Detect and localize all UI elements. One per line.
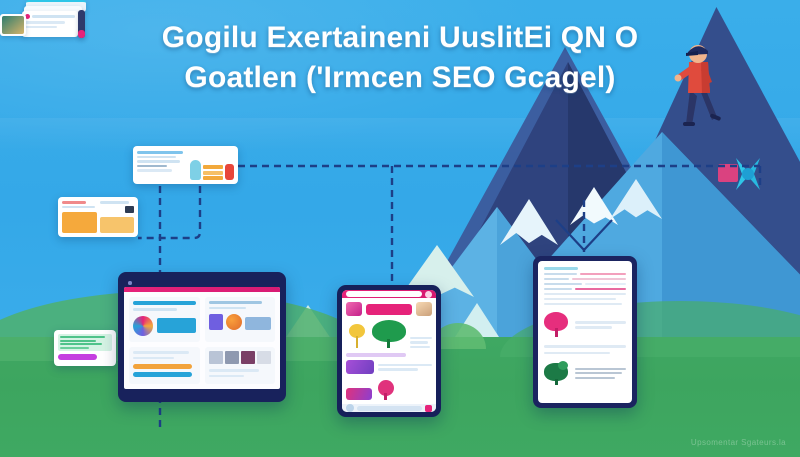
panel-analytics[interactable] [129, 297, 200, 342]
serp-card-thumbs [190, 150, 234, 180]
serp-line-1 [137, 151, 183, 154]
panel-report-swatch-1 [209, 351, 223, 364]
snippet-green-box [58, 334, 112, 351]
tablet-line-1a [544, 273, 577, 276]
balloon-stem [356, 336, 358, 348]
phone-foot-field[interactable] [357, 406, 422, 411]
panel-report-swatch-3 [241, 351, 255, 364]
tablet-line-4a [544, 288, 572, 291]
phone-illustration-pin [377, 380, 395, 400]
laptop-panel-grid [124, 292, 280, 389]
serp-thumb-orange-2 [203, 171, 223, 175]
phone-foot-icon[interactable] [346, 404, 354, 412]
snippet-cta-bar[interactable] [58, 354, 97, 360]
illustration-pink-tree [544, 312, 570, 338]
serp-thumb-orange-1 [203, 165, 223, 169]
panel-traffic-circle [226, 314, 242, 330]
summit-flag-marker [716, 152, 764, 196]
serp-line-2 [137, 156, 176, 159]
serp-thumb-teal [190, 160, 201, 180]
panel-rankings-line-2 [133, 357, 174, 360]
panel-traffic-line-2 [209, 307, 247, 310]
panel-analytics-row [133, 316, 196, 336]
pink-tree-trunk [555, 328, 558, 337]
serp-result-card[interactable] [133, 146, 238, 184]
phone-thumb-tan [416, 302, 432, 316]
phone-row-1 [346, 302, 432, 316]
serp-line-3 [137, 160, 180, 163]
page-title: Gogilu Exertaineni UuslitEi QN O Goatlen… [0, 18, 800, 98]
pin-stem [384, 393, 387, 400]
watermark-text: Upsomentar Sgateurs.la [691, 438, 786, 447]
ad-card-col-right [100, 201, 135, 233]
flag-marker-center [742, 168, 754, 180]
panel-traffic-line-1 [209, 301, 262, 304]
serp-card-lines [137, 150, 187, 180]
flag-marker-svg [716, 152, 764, 196]
laptop-titlebar [124, 279, 280, 287]
phone-screen [342, 290, 436, 412]
tablet-line-5 [544, 293, 626, 296]
ad-block-orange-left [62, 212, 97, 233]
mobile-serp-phone[interactable] [337, 285, 441, 417]
ad-line-2 [62, 206, 95, 209]
panel-report-swatch-4 [257, 351, 271, 364]
tablet-pink-line-2 [575, 326, 612, 329]
tablet-line-row-2 [544, 278, 626, 281]
panel-analytics-line [133, 308, 177, 311]
phone-divider-bar [346, 353, 406, 357]
tablet-line-row-3 [544, 283, 626, 286]
tablet-line-7 [544, 303, 622, 306]
tablet-pink-line-1 [575, 321, 626, 324]
panel-traffic-bar-purple [209, 314, 223, 330]
tablet-row-green [544, 361, 626, 385]
banner-canvas: Gogilu Exertaineni UuslitEi QN O Goatlen… [0, 0, 800, 457]
snippet-green-line-3 [60, 343, 102, 345]
phone-illustration-balloon [346, 324, 368, 348]
tablet-line-2b [572, 278, 626, 281]
tablet-line-3b [585, 283, 626, 286]
ad-card-columns [62, 201, 134, 233]
tablet-green-line-3 [575, 377, 615, 379]
phone-thumb-pink [346, 302, 362, 316]
snippet-green-line-1 [60, 336, 105, 338]
panel-report-swatches [209, 351, 272, 364]
illustration-green-bush [544, 361, 570, 385]
panel-rankings-bar-orange [133, 364, 192, 369]
tablet-line-3a [544, 283, 582, 286]
tablet-line-8 [544, 345, 626, 348]
serp-line-4 [137, 165, 167, 168]
tablet-green-line-2 [575, 372, 622, 374]
panel-rankings-bar-blue [133, 372, 192, 377]
laptop-screen [124, 287, 280, 389]
content-tablet[interactable] [533, 256, 637, 408]
ad-card-col-left [62, 201, 97, 233]
panel-report-line-2 [209, 375, 244, 378]
phone-bar-pink [366, 304, 412, 315]
panel-report[interactable] [205, 347, 276, 384]
snippet-green-line-2 [60, 340, 96, 342]
snippet-green-line-4 [60, 347, 89, 349]
phone-block-gradient [346, 388, 372, 400]
tablet-line-4b [575, 288, 626, 291]
phone-lines-group-1 [410, 337, 432, 349]
panel-report-line-1 [209, 369, 259, 372]
panel-analytics-chart [133, 316, 153, 336]
tablet-line-title [544, 267, 578, 270]
panel-traffic-row [209, 314, 272, 330]
tablet-line-9 [544, 352, 610, 355]
tablet-line-2a [544, 278, 569, 281]
serp-thumb-orange-3 [203, 176, 223, 180]
title-line-2: Goatlen ('Irmcen SEO Gcagel) [70, 58, 730, 98]
phone-foot-action[interactable] [425, 405, 432, 412]
phone-line-2 [410, 341, 428, 344]
ad-listing-card[interactable] [58, 197, 138, 237]
panel-rankings-line-1 [133, 351, 189, 354]
green-bush-top [558, 361, 568, 370]
tree-trunk [387, 339, 390, 348]
phone-line-4 [378, 364, 432, 367]
phone-avatar[interactable] [425, 291, 432, 298]
tablet-pink-lines [575, 321, 626, 329]
tablet-line-row-4 [544, 288, 626, 291]
phone-content [342, 298, 436, 404]
phone-line-5 [378, 368, 418, 371]
phone-line-3 [410, 346, 430, 349]
panel-report-swatch-2 [225, 351, 239, 364]
green-bush-stem [555, 379, 558, 385]
tablet-green-lines [575, 368, 626, 379]
phone-search-input[interactable] [346, 291, 422, 297]
panel-traffic[interactable] [205, 297, 276, 342]
phone-line-1 [410, 337, 432, 340]
laptop-camera-dot [128, 281, 132, 285]
phone-lines-group-2 [378, 364, 432, 371]
panel-rankings[interactable] [129, 347, 200, 384]
panel-analytics-block [157, 318, 196, 333]
phone-row-2 [346, 320, 432, 348]
ad-icon-dark [125, 206, 134, 213]
phone-row-4 [346, 380, 432, 400]
tablet-green-line-1 [575, 368, 626, 370]
ad-line-1 [62, 201, 86, 204]
ad-block-orange-right [100, 217, 135, 234]
tablet-doc-lines-top [544, 267, 626, 305]
panel-analytics-title [133, 301, 196, 305]
serp-thumb-red [225, 164, 234, 180]
panel-traffic-bar-blue [245, 317, 272, 330]
tablet-screen [538, 261, 632, 403]
tablet-row-pink [544, 312, 626, 338]
serp-line-5 [137, 169, 172, 172]
phone-block-purple [346, 360, 374, 374]
tablet-line-6 [544, 298, 616, 301]
phone-footer-bar [342, 404, 436, 412]
phone-row-3 [346, 360, 432, 374]
phone-illustration-tree [372, 320, 406, 348]
tablet-line-1b [580, 273, 626, 276]
climber-shoe-left [683, 122, 695, 126]
serp-thumb-orange-group [203, 165, 223, 180]
keyword-snippet-card[interactable] [54, 330, 116, 366]
phone-header [342, 290, 436, 298]
dashboard-laptop[interactable] [118, 272, 286, 402]
title-line-1: Gogilu Exertaineni UuslitEi QN O [70, 18, 730, 58]
tablet-line-row-1 [544, 273, 626, 276]
flag-marker-pink-block [718, 164, 738, 182]
ad-line-3 [100, 201, 129, 204]
